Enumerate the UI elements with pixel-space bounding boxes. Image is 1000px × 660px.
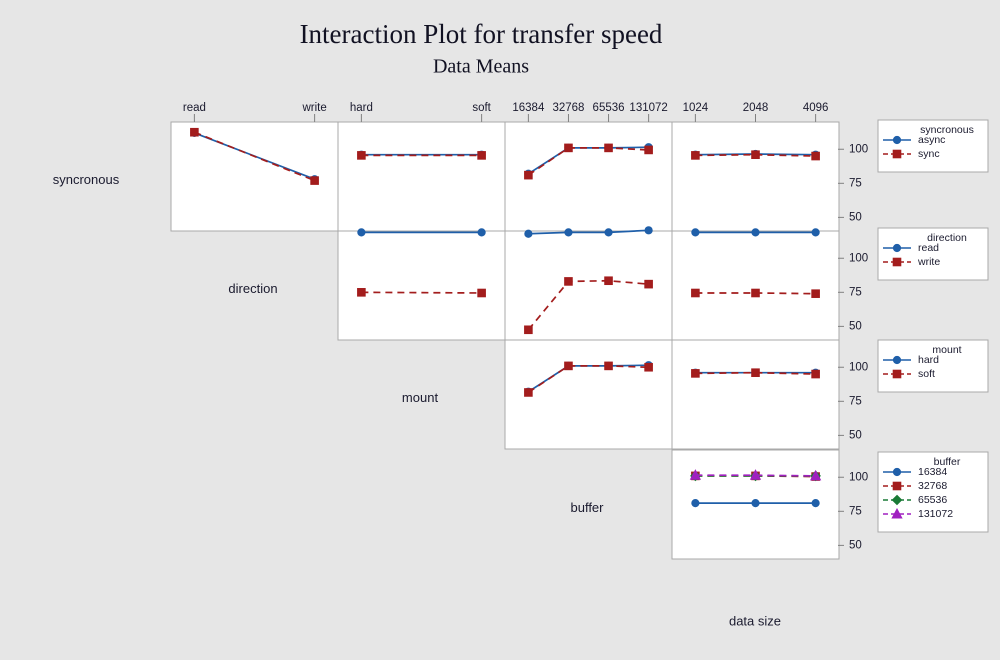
legend-buffer: buffer163843276865536131072 xyxy=(878,452,988,532)
row-label-buffer: buffer xyxy=(570,500,604,515)
data-point-square xyxy=(565,362,573,370)
data-point-circle xyxy=(478,229,485,236)
series-line xyxy=(361,292,481,293)
row-label-direction: direction xyxy=(228,281,277,296)
data-point-square xyxy=(605,362,613,370)
plot-panel xyxy=(672,340,839,449)
legend-entry-label: hard xyxy=(918,354,939,366)
panel-frame xyxy=(338,122,505,231)
plot-panel xyxy=(505,340,672,449)
panel-frame xyxy=(672,122,839,231)
plot-panel xyxy=(171,122,338,231)
data-point-circle xyxy=(752,500,759,507)
axis-label-data-size: data size xyxy=(729,613,781,628)
legend-entry-label: 32768 xyxy=(918,480,947,492)
plot-panel xyxy=(672,122,839,231)
data-point-square xyxy=(565,144,573,152)
data-point-circle xyxy=(893,356,900,363)
data-point-square xyxy=(358,152,366,160)
data-point-square xyxy=(191,128,199,136)
y-tick-label: 50 xyxy=(849,211,862,223)
data-point-square xyxy=(565,278,573,286)
data-point-square xyxy=(645,146,653,154)
data-point-circle xyxy=(812,500,819,507)
page-title: Interaction Plot for transfer speed xyxy=(300,19,663,49)
data-point-square xyxy=(311,177,319,185)
data-point-circle xyxy=(358,229,365,236)
y-tick-label: 50 xyxy=(849,429,862,441)
y-tick-label: 75 xyxy=(849,177,862,189)
data-point-square xyxy=(893,482,901,490)
data-point-square xyxy=(752,289,760,297)
panel-frame xyxy=(338,231,505,340)
data-point-circle xyxy=(605,229,612,236)
data-point-circle xyxy=(565,229,572,236)
data-point-square xyxy=(692,370,700,378)
data-point-square xyxy=(812,152,820,160)
plot-panel xyxy=(672,450,839,559)
data-point-circle xyxy=(692,500,699,507)
plot-panel xyxy=(338,229,505,340)
plot-panel xyxy=(505,122,672,231)
row-label-mount: mount xyxy=(402,390,439,405)
legend-entry-label: 131072 xyxy=(918,508,953,520)
column-tick-label: 1024 xyxy=(683,102,709,114)
column-tick-label: 32768 xyxy=(552,102,584,114)
data-point-square xyxy=(525,171,533,179)
panel-frame xyxy=(672,340,839,449)
data-point-square xyxy=(893,370,901,378)
y-tick-label: 100 xyxy=(849,143,868,155)
row-label-syncronous: syncronous xyxy=(53,172,120,187)
data-point-square xyxy=(812,370,820,378)
legend-syncronous: syncronousasyncsync xyxy=(878,120,988,172)
data-point-square xyxy=(478,152,486,160)
data-point-square xyxy=(525,326,533,334)
data-point-circle xyxy=(752,229,759,236)
column-tick-label: read xyxy=(183,102,206,114)
data-point-circle xyxy=(645,227,652,234)
column-tick-label: soft xyxy=(472,102,491,114)
data-point-square xyxy=(752,151,760,159)
data-point-circle xyxy=(692,229,699,236)
data-point-circle xyxy=(812,229,819,236)
data-point-square xyxy=(645,280,653,288)
data-point-square xyxy=(893,258,901,266)
y-tick-label: 75 xyxy=(849,286,862,298)
legend-mount: mounthardsoft xyxy=(878,340,988,392)
y-tick-label: 100 xyxy=(849,252,868,264)
column-tick-label: 2048 xyxy=(743,102,769,114)
data-point-circle xyxy=(893,136,900,143)
data-point-square xyxy=(645,363,653,371)
data-point-circle xyxy=(893,468,900,475)
data-point-square xyxy=(812,290,820,298)
column-tick-label: hard xyxy=(350,102,373,114)
column-tick-label: 65536 xyxy=(593,102,625,114)
legend-entry-label: write xyxy=(917,256,940,268)
column-tick-label: 16384 xyxy=(512,102,545,114)
y-tick-label: 75 xyxy=(849,505,862,517)
page-subtitle: Data Means xyxy=(433,56,529,78)
plot-panel xyxy=(338,122,505,231)
data-point-square xyxy=(692,152,700,160)
y-tick-label: 50 xyxy=(849,320,862,332)
data-point-square xyxy=(358,289,366,297)
data-point-circle xyxy=(525,230,532,237)
column-tick-label: write xyxy=(301,102,326,114)
y-tick-label: 100 xyxy=(849,361,868,373)
data-point-square xyxy=(605,277,613,285)
y-tick-label: 100 xyxy=(849,471,868,483)
data-point-square xyxy=(525,389,533,397)
legend-entry-label: async xyxy=(918,134,945,146)
data-point-square xyxy=(478,289,486,297)
legend-entry-label: 16384 xyxy=(918,466,947,478)
data-point-square xyxy=(893,150,901,158)
legend-entry-label: soft xyxy=(918,368,935,380)
column-tick-label: 4096 xyxy=(803,102,829,114)
data-point-circle xyxy=(893,244,900,251)
plot-panel xyxy=(505,227,672,340)
column-tick-label: 131072 xyxy=(629,102,667,114)
legend-direction: directionreadwrite xyxy=(878,228,988,280)
interaction-plot-canvas: Interaction Plot for transfer speed Data… xyxy=(0,0,1000,660)
y-tick-label: 75 xyxy=(849,395,862,407)
data-point-square xyxy=(692,289,700,297)
data-point-square xyxy=(605,144,613,152)
legend-entry-label: read xyxy=(918,242,939,254)
legend-entry-label: 65536 xyxy=(918,494,947,506)
y-tick-label: 50 xyxy=(849,539,862,551)
data-point-square xyxy=(752,369,760,377)
panel-frame xyxy=(672,231,839,340)
plot-panel xyxy=(672,229,839,340)
legend-entry-label: sync xyxy=(918,148,940,160)
